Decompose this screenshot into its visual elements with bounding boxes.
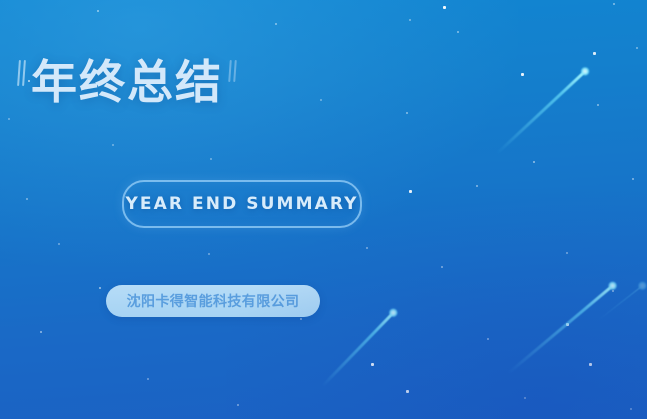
meteor-bottom-right bbox=[507, 284, 615, 375]
star-dot bbox=[99, 287, 101, 289]
star-dot bbox=[613, 3, 615, 5]
star-dot bbox=[406, 112, 408, 114]
star-dot bbox=[597, 104, 599, 106]
meteor-head bbox=[636, 280, 647, 293]
year-end-summary-poster: 年终总结 YEAR END SUMMARY 沈阳卡得智能科技有限公司 bbox=[0, 0, 647, 419]
english-subtitle-pill: YEAR END SUMMARY bbox=[122, 180, 362, 228]
star-dot bbox=[406, 390, 409, 393]
star-dot bbox=[589, 363, 592, 366]
star-dot bbox=[409, 19, 411, 21]
meteor-bottom-center bbox=[321, 311, 395, 388]
star-dot bbox=[441, 266, 443, 268]
star-dot bbox=[593, 52, 596, 55]
title-block: 年终总结 bbox=[18, 28, 236, 136]
star-dot bbox=[521, 73, 524, 76]
star-dot bbox=[40, 331, 42, 333]
meteor-faint-right bbox=[598, 284, 645, 321]
meteor-top-right bbox=[496, 69, 587, 155]
star-dot bbox=[320, 99, 322, 101]
star-dot bbox=[524, 397, 526, 399]
star-dot bbox=[636, 47, 638, 49]
page-title: 年终总结 bbox=[31, 59, 223, 105]
star-dot bbox=[237, 404, 239, 406]
star-dot bbox=[58, 243, 60, 245]
star-dot bbox=[275, 23, 277, 25]
star-dot bbox=[371, 363, 374, 366]
star-dot bbox=[487, 338, 489, 340]
company-name-label: 沈阳卡得智能科技有限公司 bbox=[127, 291, 300, 311]
star-dot bbox=[612, 290, 614, 292]
star-dot bbox=[210, 158, 212, 160]
star-dot bbox=[566, 252, 568, 254]
star-dot bbox=[300, 318, 302, 320]
star-dot bbox=[97, 10, 99, 12]
star-dot bbox=[8, 118, 10, 120]
meteor-head bbox=[579, 65, 592, 78]
star-dot bbox=[366, 247, 368, 249]
left-quote-mark bbox=[18, 58, 25, 106]
star-dot bbox=[630, 408, 632, 410]
english-subtitle-label: YEAR END SUMMARY bbox=[125, 194, 358, 214]
star-dot bbox=[457, 31, 459, 33]
star-dot bbox=[566, 323, 569, 326]
star-dot bbox=[476, 185, 478, 187]
meteor-head bbox=[387, 306, 400, 319]
star-dot bbox=[409, 190, 412, 193]
star-dot bbox=[533, 161, 535, 163]
star-dot bbox=[443, 6, 446, 9]
star-dot bbox=[147, 378, 149, 380]
star-dot bbox=[26, 198, 28, 200]
star-dot bbox=[632, 178, 634, 180]
star-dot bbox=[112, 144, 114, 146]
right-quote-mark bbox=[229, 58, 236, 106]
company-name-pill: 沈阳卡得智能科技有限公司 bbox=[106, 285, 320, 317]
star-dot bbox=[208, 253, 210, 255]
meteor-head bbox=[606, 279, 619, 292]
